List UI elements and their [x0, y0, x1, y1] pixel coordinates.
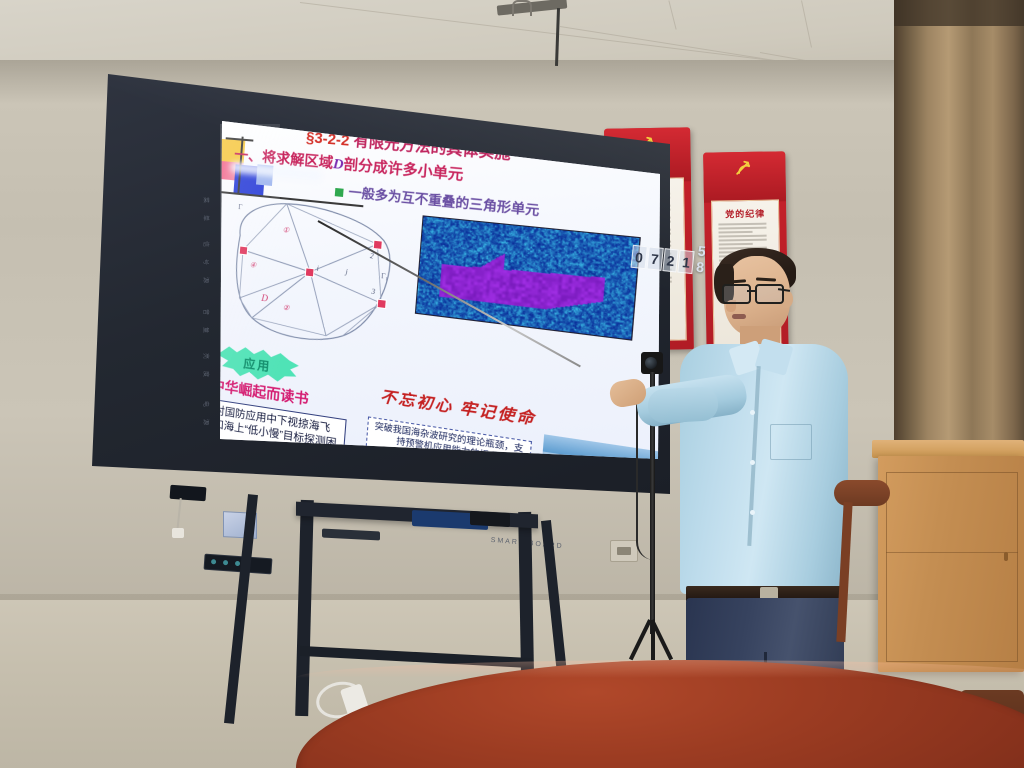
- shirt-button-3: [750, 510, 755, 515]
- cabinet-knob[interactable]: [1004, 552, 1008, 561]
- wooden-cabinet[interactable]: [878, 456, 1024, 672]
- bezel-label-4[interactable]: 源: [201, 277, 211, 289]
- scattering-heatmap-image: [415, 215, 641, 340]
- mesh-label-elem-4: ④: [250, 261, 257, 270]
- wire-plug: [172, 528, 184, 538]
- hammer-sickle-icon: [733, 159, 755, 177]
- forearm: [647, 386, 719, 424]
- shirt-button-2: [750, 460, 755, 465]
- rail-clip: [512, 0, 532, 16]
- cabinet-seam: [886, 552, 1018, 553]
- mesh-node-2: [373, 240, 383, 250]
- mesh-label-node-3: 3: [371, 287, 375, 296]
- bullet-square-icon: [335, 188, 344, 197]
- cabinet-door[interactable]: [886, 472, 1018, 662]
- window-curtain: [894, 0, 1024, 470]
- heading-1-tail: 剖分成许多小单元: [343, 156, 464, 183]
- mesh-diagram: Γ ① ④ ② D i j 2 3 Γ₁: [214, 192, 420, 368]
- curtain-rail: [894, 0, 1024, 26]
- mesh-label-elem-2: ②: [283, 303, 290, 312]
- bezel-label-7[interactable]: 亮: [201, 353, 211, 365]
- mesh-node-center: [305, 267, 315, 277]
- bezel-label-0[interactable]: 菜: [201, 197, 211, 209]
- bezel-label-9[interactable]: 电: [201, 401, 211, 413]
- presentation-slide: §3-2-2 有限元方法的具体实施 一、将求解区域D剖分成许多小单元 一般多为互…: [185, 112, 670, 494]
- shirt-button-1: [750, 410, 755, 415]
- mesh-label-region-d: D: [261, 293, 268, 304]
- poster-right-title: 党的纪律: [712, 206, 779, 220]
- display-vent: [170, 485, 207, 501]
- mesh-label-gamma-1: Γ₁: [381, 272, 389, 281]
- bezel-label-10[interactable]: 源: [201, 419, 211, 431]
- interactive-flat-panel-display[interactable]: §3-2-2 有限元方法的具体实施 一、将求解区域D剖分成许多小单元 一般多为互…: [92, 74, 670, 494]
- bezel-control-labels[interactable]: 菜 单 信 号 源 音 量 亮 度 电 源: [200, 194, 216, 444]
- glasses-icon: [722, 284, 784, 302]
- bezel-label-8[interactable]: 度: [201, 371, 211, 383]
- set-top-box[interactable]: [470, 511, 510, 527]
- bezel-label-2[interactable]: 信: [201, 241, 211, 253]
- heatmap-canvas: [416, 216, 640, 339]
- bezel-label-6[interactable]: 量: [201, 327, 211, 339]
- lecture-room-photo: 党的纪律 §3-2-2 有限元方法的具体实施: [0, 0, 1024, 768]
- shirt-pocket: [770, 424, 812, 460]
- wooden-chair: [824, 480, 894, 650]
- mesh-node-3: [377, 299, 387, 309]
- mesh-svg: [214, 192, 420, 368]
- mouth: [732, 314, 746, 319]
- mesh-label-gamma: Γ: [238, 203, 243, 211]
- mesh-label-elem-1: ①: [282, 226, 289, 235]
- bezel-label-5[interactable]: 音: [201, 309, 211, 321]
- bezel-label-3[interactable]: 号: [201, 259, 211, 271]
- mesh-node-4: [239, 245, 249, 255]
- wall-power-outlet: [610, 540, 638, 562]
- bezel-label-1[interactable]: 单: [201, 215, 211, 227]
